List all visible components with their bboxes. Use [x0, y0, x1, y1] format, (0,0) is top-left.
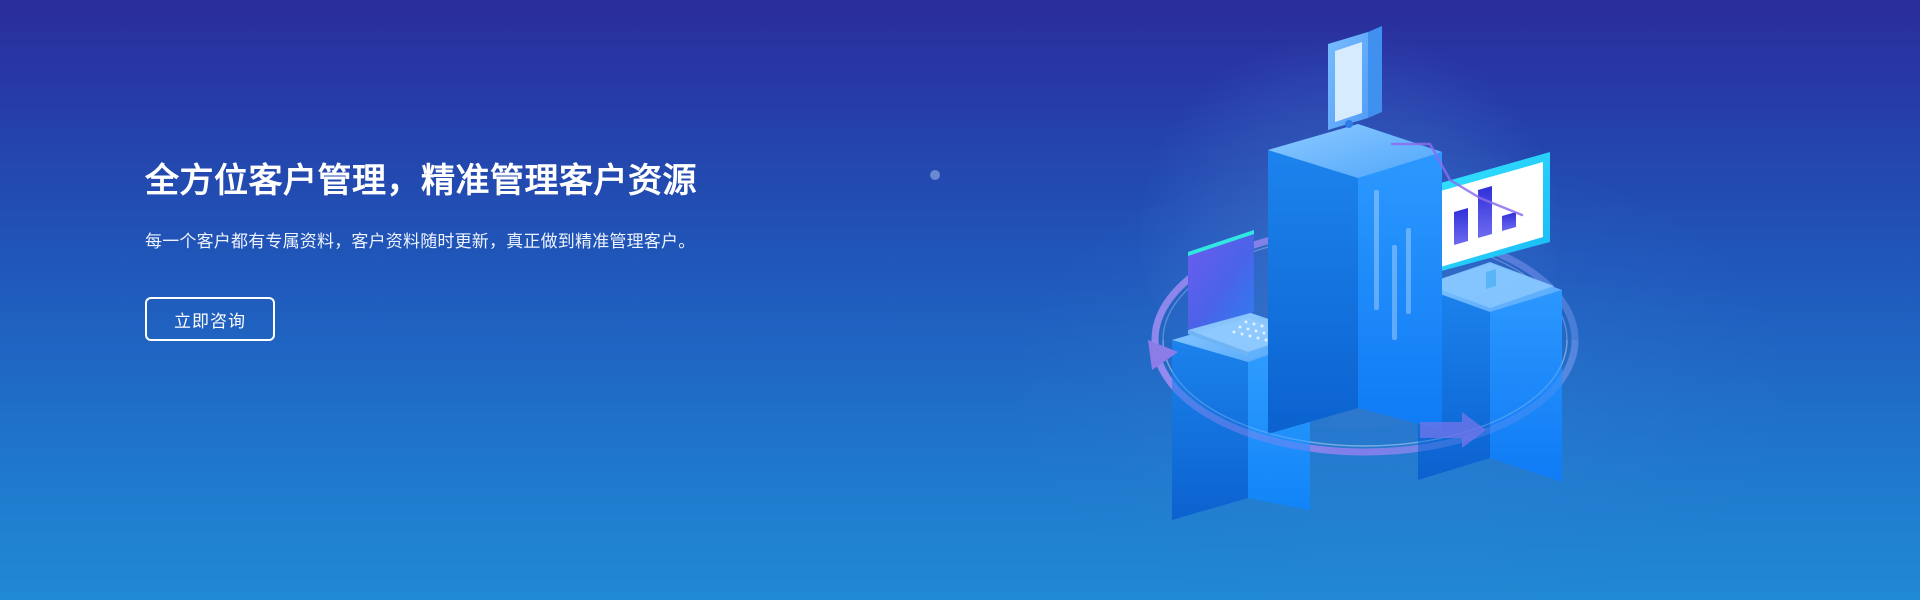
consult-now-button[interactable]: 立即咨询 [145, 297, 275, 341]
hero-text-column: 全方位客户管理，精准管理客户资源 每一个客户都有专属资料，客户资料随时更新，真正… [145, 160, 785, 341]
hero-subtitle: 每一个客户都有专属资料，客户资料随时更新，真正做到精准管理客户。 [145, 228, 730, 256]
page-title: 全方位客户管理，精准管理客户资源 [145, 160, 785, 203]
monitor-icon [1426, 152, 1554, 308]
center-pillar [1268, 124, 1442, 434]
hero-banner: 全方位客户管理，精准管理客户资源 每一个客户都有专属资料，客户资料随时更新，真正… [0, 0, 1920, 600]
background-sparkle-dot [930, 170, 940, 180]
tablet-icon [1328, 26, 1382, 130]
hero-illustration [1130, 40, 1600, 560]
